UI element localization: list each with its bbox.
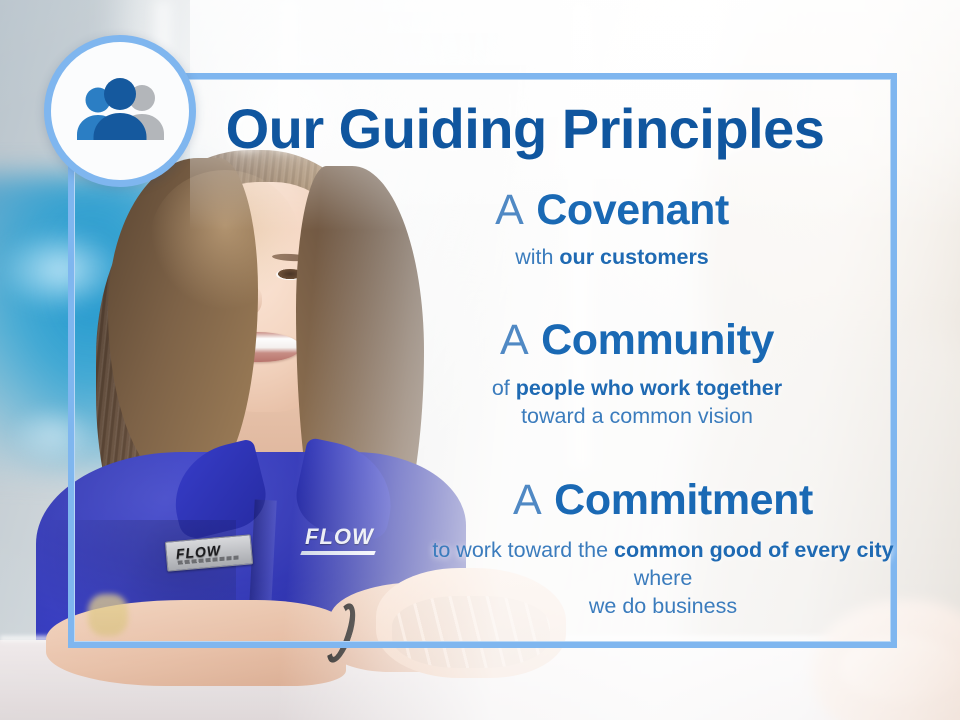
principle-article: A xyxy=(495,186,524,234)
principle-subtext: of people who work together toward a com… xyxy=(374,374,900,431)
principle-heading: A Community xyxy=(374,316,900,364)
principle-word: Covenant xyxy=(536,186,729,234)
subtext-plain: with xyxy=(515,245,559,269)
principle-subtext: to work toward the common good of every … xyxy=(426,536,900,621)
principle-heading: A Commitment xyxy=(426,476,900,524)
subtext-bold: common good of every city xyxy=(614,538,894,562)
principle-word: Community xyxy=(541,316,774,364)
subtext-line-3: we do business xyxy=(426,592,900,620)
subtext-bold: our customers xyxy=(559,245,708,269)
guiding-principles-banner: FLOW FLOW xyxy=(0,0,960,720)
subtext-bold: people who work together xyxy=(516,376,782,400)
principles-list: A Covenant with our customers A Communit… xyxy=(330,186,900,627)
principle-article: A xyxy=(500,316,529,364)
principle-word: Commitment xyxy=(554,476,813,524)
principle-article: A xyxy=(513,476,542,524)
principle-commitment: A Commitment to work toward the common g… xyxy=(426,476,900,620)
subtext-plain: of xyxy=(492,376,516,400)
subtext-plain-2: toward a common vision xyxy=(521,404,753,428)
page-title: Our Guiding Principles xyxy=(0,96,960,161)
subtext-plain-2: where xyxy=(634,566,693,590)
principle-community: A Community of people who work together … xyxy=(374,316,900,431)
principle-subtext: with our customers xyxy=(324,243,900,271)
subtext-plain: to work toward the xyxy=(432,538,614,562)
principle-covenant: A Covenant with our customers xyxy=(324,186,900,272)
principle-heading: A Covenant xyxy=(324,186,900,234)
